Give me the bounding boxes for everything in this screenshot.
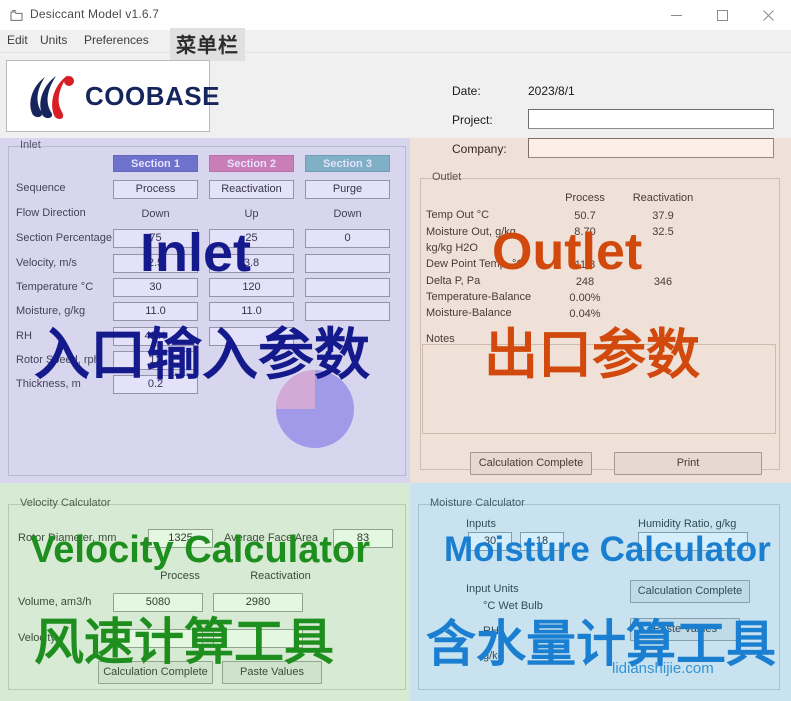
- velocity-process-value: [113, 629, 203, 648]
- humidity-ratio-label: Humidity Ratio, g/kg: [638, 518, 736, 530]
- inlet-velocity-3[interactable]: [305, 254, 390, 273]
- outlet-group-title: Outlet: [429, 171, 464, 183]
- inlet-velocity-2[interactable]: 3.8: [209, 254, 294, 273]
- company-row: Company:: [452, 138, 782, 167]
- inlet-row-label-flow: Flow Direction: [16, 207, 86, 219]
- velocity-col-header-reactivation: Reactivation: [233, 568, 328, 586]
- outlet-value-dew-point-reactivation: [624, 257, 702, 275]
- menu-item-edit[interactable]: Edit: [7, 33, 28, 47]
- inlet-section-tab-3[interactable]: Section 3: [305, 155, 390, 172]
- company-label: Company:: [452, 142, 507, 156]
- outlet-value-dew-point-process: 11.8: [546, 257, 624, 275]
- maximize-icon[interactable]: [699, 0, 745, 30]
- watermark-text: lidianshijie.com: [612, 660, 714, 677]
- inlet-row-label-velocity: Velocity, m/s: [16, 257, 77, 269]
- moisture-paste-values-button[interactable]: Paste Values: [630, 618, 740, 641]
- volume-process-input[interactable]: 5080: [113, 593, 203, 612]
- velocity-calculator-title: Velocity Calculator: [17, 497, 114, 509]
- outlet-row-label-kgkg-h2o: kg/kg H2O: [426, 242, 478, 254]
- velocity-label: Velocity: [18, 632, 56, 644]
- document-header: Date: 2023/8/1 Project: Company:: [452, 80, 782, 167]
- inlet-flow-3[interactable]: Down: [305, 206, 390, 224]
- moisture-unit-option-rh[interactable]: RH: [483, 625, 499, 637]
- volume-label: Volume, am3/h: [18, 596, 91, 608]
- inlet-row-label-rotor-speed: Rotor Speed, rph: [16, 354, 100, 366]
- inlet-sequence-3[interactable]: Purge: [305, 180, 390, 199]
- average-face-area-value: 83: [333, 529, 393, 548]
- title-bar: Desiccant Model v1.6.7: [0, 0, 791, 30]
- inlet-rh-2[interactable]: [209, 327, 294, 346]
- moisture-unit-option-gkg[interactable]: g/kg: [483, 650, 504, 662]
- outlet-col-header-process: Process: [546, 190, 624, 208]
- moisture-input-units-label: Input Units: [466, 583, 519, 595]
- outlet-row-label-temp-balance: Temperature-Balance: [426, 291, 531, 303]
- company-input[interactable]: [528, 138, 774, 158]
- inlet-temperature-1[interactable]: 30: [113, 278, 198, 297]
- outlet-row-label-moisture-balance: Moisture-Balance: [426, 307, 512, 319]
- inlet-temperature-3[interactable]: [305, 278, 390, 297]
- outlet-row-label-moisture-out: Moisture Out, g/kg: [426, 226, 516, 238]
- menu-bar: Edit Units Preferences: [0, 30, 791, 53]
- inlet-row-label-moisture: Moisture, g/kg: [16, 305, 85, 317]
- moisture-input-b[interactable]: 18: [520, 532, 564, 551]
- inlet-row-label-thickness: Thickness, m: [16, 378, 81, 390]
- inlet-percentage-1[interactable]: 75: [113, 229, 198, 248]
- outlet-row-label-dew-point: Dew Point Temp, °C: [426, 258, 524, 270]
- outlet-row-label-temp-out: Temp Out °C: [426, 209, 489, 221]
- inlet-moisture-2[interactable]: 11.0: [209, 302, 294, 321]
- inlet-sequence-1[interactable]: Process: [113, 180, 198, 199]
- inlet-row-label-temperature: Temperature °C: [16, 281, 93, 293]
- project-row: Project:: [452, 109, 782, 138]
- inlet-moisture-1[interactable]: 11.0: [113, 302, 198, 321]
- rotor-diameter-label: Rotor Diameter, mm: [18, 532, 116, 544]
- date-label: Date:: [452, 84, 481, 98]
- inlet-rotor-speed-1[interactable]: 12: [113, 351, 198, 370]
- moisture-unit-option-wetbulb[interactable]: °C Wet Bulb: [483, 600, 543, 612]
- inlet-row-label-rh: RH: [16, 330, 32, 342]
- window-app-icon: [10, 9, 23, 21]
- inlet-rh-1[interactable]: 42%: [113, 327, 198, 346]
- menu-item-units[interactable]: Units: [40, 33, 67, 47]
- inlet-flow-2[interactable]: Up: [209, 206, 294, 224]
- humidity-ratio-value: [638, 532, 748, 551]
- average-face-area-label: Average Face Area: [224, 532, 318, 544]
- inlet-flow-1[interactable]: Down: [113, 206, 198, 224]
- velocity-reactivation-value: [213, 629, 303, 648]
- velocity-calculation-complete-button[interactable]: Calculation Complete: [98, 661, 213, 684]
- inlet-thickness-1[interactable]: 0.2: [113, 375, 198, 394]
- inlet-section-tab-1[interactable]: Section 1: [113, 155, 198, 172]
- outlet-value-moisture-out-process: 8.70: [546, 224, 624, 242]
- inlet-row-label-percentage: Section Percentage: [16, 232, 112, 244]
- project-input[interactable]: [528, 109, 774, 129]
- window-controls: [653, 0, 791, 30]
- moisture-calculation-complete-button[interactable]: Calculation Complete: [630, 580, 750, 603]
- outlet-value-delta-p-reactivation: 346: [624, 274, 702, 292]
- inlet-velocity-1[interactable]: 2.5: [113, 254, 198, 273]
- menu-item-preferences[interactable]: Preferences: [84, 33, 149, 47]
- inlet-group-title: Inlet: [17, 139, 44, 151]
- close-icon[interactable]: [745, 0, 791, 30]
- inlet-row-label-sequence: Sequence: [16, 182, 66, 194]
- inlet-moisture-3[interactable]: [305, 302, 390, 321]
- date-row: Date: 2023/8/1: [452, 80, 782, 109]
- inlet-section-tab-2[interactable]: Section 2: [209, 155, 294, 172]
- inlet-sequence-2[interactable]: Reactivation: [209, 180, 294, 199]
- outlet-row-label-delta-p: Delta P, Pa: [426, 275, 480, 287]
- inlet-temperature-2[interactable]: 120: [209, 278, 294, 297]
- company-logo: COOBASE: [6, 60, 210, 132]
- inlet-percentage-2[interactable]: 25: [209, 229, 294, 248]
- logo-text: COOBASE: [85, 81, 220, 112]
- menubar-annotation: 菜单栏: [170, 28, 245, 61]
- inlet-percentage-3[interactable]: 0: [305, 229, 390, 248]
- outlet-col-header-reactivation: Reactivation: [624, 190, 702, 208]
- coobase-swirl-icon: [25, 71, 77, 121]
- notes-textarea[interactable]: [422, 344, 776, 434]
- moisture-calculator-title: Moisture Calculator: [427, 497, 528, 509]
- rotor-diameter-input[interactable]: 1325: [148, 529, 213, 548]
- velocity-paste-values-button[interactable]: Paste Values: [222, 661, 322, 684]
- date-value: 2023/8/1: [528, 84, 575, 98]
- outlet-value-moisture-balance: 0.04%: [546, 306, 624, 324]
- rotor-section-pie-chart: [276, 370, 354, 448]
- moisture-input-a[interactable]: 30: [468, 532, 512, 551]
- outlet-calculation-complete-button[interactable]: Calculation Complete: [470, 452, 592, 475]
- outlet-value-moisture-out-reactivation: 32.5: [624, 224, 702, 242]
- volume-reactivation-input[interactable]: 2980: [213, 593, 303, 612]
- project-label: Project:: [452, 113, 493, 127]
- outlet-print-button[interactable]: Print: [614, 452, 762, 475]
- window-title: Desiccant Model v1.6.7: [30, 7, 159, 21]
- minimize-icon[interactable]: [653, 0, 699, 30]
- moisture-inputs-label: Inputs: [466, 518, 496, 530]
- application-window: Desiccant Model v1.6.7 Edit Units Prefer…: [0, 0, 791, 701]
- velocity-col-header-process: Process: [135, 568, 225, 586]
